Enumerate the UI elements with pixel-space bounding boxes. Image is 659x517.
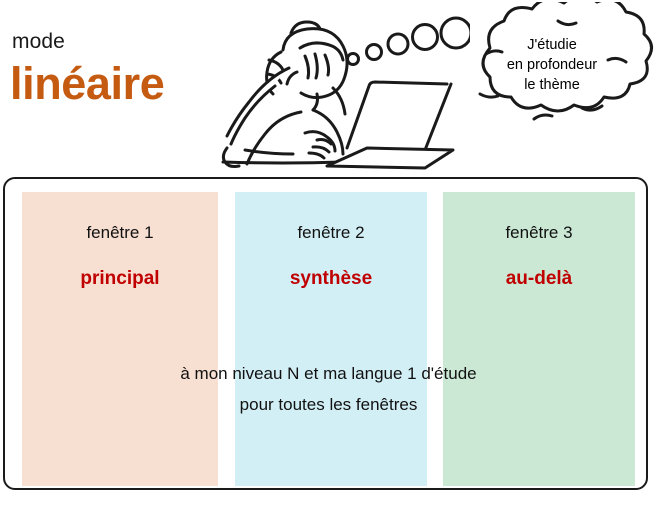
- window-2-value: synthèse: [235, 267, 427, 291]
- window-1-value: principal: [22, 267, 218, 291]
- mode-label: mode: [12, 30, 65, 54]
- window-1-label: fenêtre 1: [22, 222, 218, 244]
- thought-bubble-text: J'étudie en profondeur le thème: [472, 35, 632, 95]
- window-2-label: fenêtre 2: [235, 222, 427, 244]
- thought-line-1: J'étudie: [472, 35, 632, 55]
- window-3-label: fenêtre 3: [443, 222, 635, 244]
- window-3-value: au-delà: [443, 267, 635, 291]
- mode-name-title: linéaire: [10, 58, 164, 110]
- footer-line-2: pour toutes les fenêtres: [22, 389, 635, 420]
- thought-line-3: le thème: [472, 75, 632, 95]
- panel-footer-note: à mon niveau N et ma langue 1 d'étude po…: [22, 358, 635, 420]
- footer-line-1: à mon niveau N et ma langue 1 d'étude: [22, 358, 635, 389]
- thought-line-2: en profondeur: [472, 55, 632, 75]
- header: mode linéaire: [0, 0, 659, 178]
